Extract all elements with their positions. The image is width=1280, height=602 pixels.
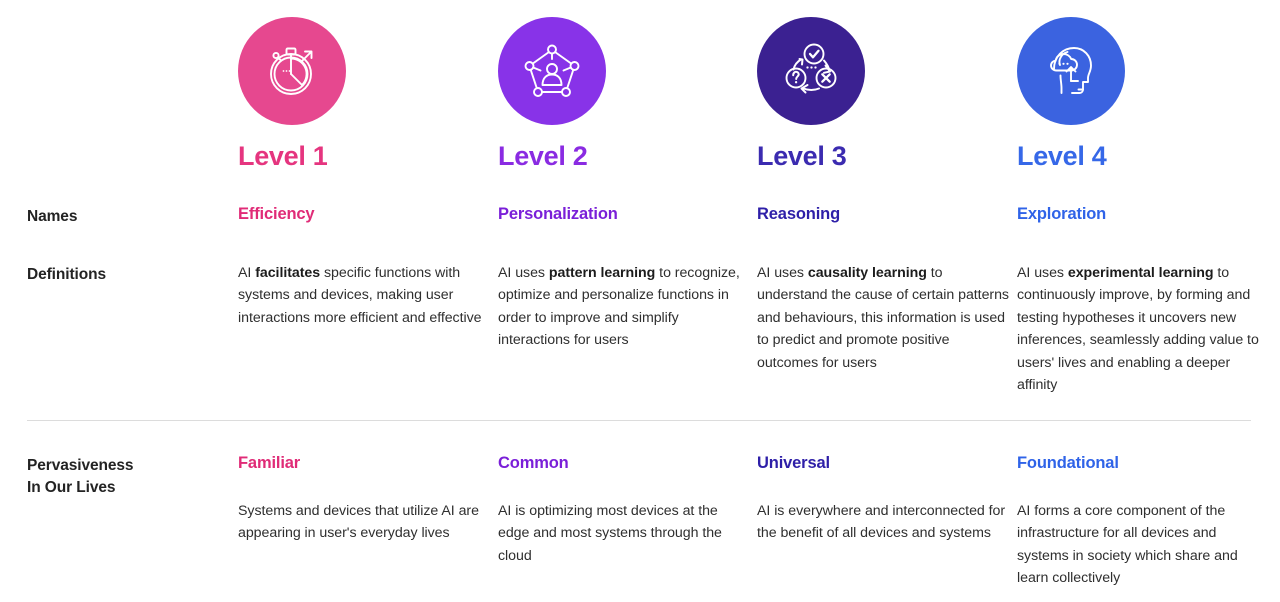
level-3-icon-circle (757, 17, 865, 125)
definition-prefix: AI uses (757, 265, 808, 281)
row-label-pervasiveness: Pervasiveness In Our Lives (27, 455, 227, 500)
level-2-name: Personalization (498, 205, 748, 224)
level-3-pervasiveness-body: AI is everywhere and interconnected for … (757, 500, 1009, 545)
level-3-title: Level 3 (757, 142, 1009, 172)
definition-prefix: AI (238, 265, 255, 281)
level-1-name: Efficiency (238, 205, 488, 224)
ai-maturity-levels-infographic: Level 1 Level 2 Level 3 Level 4 Names De… (0, 0, 1280, 602)
definition-bold: pattern learning (549, 265, 655, 281)
definition-bold: causality learning (808, 265, 927, 281)
level-1-pervasiveness-heading: Familiar (238, 454, 488, 473)
row-label-names: Names (27, 206, 227, 228)
level-3-definition: AI uses causality learning to understand… (757, 262, 1009, 374)
level-4-title: Level 4 (1017, 142, 1269, 172)
row-label-pervasiveness-line1: Pervasiveness (27, 455, 227, 477)
level-3-name: Reasoning (757, 205, 1009, 224)
definition-prefix: AI uses (498, 265, 549, 281)
row-label-definitions: Definitions (27, 264, 227, 286)
definition-suffix: to continuously improve, by forming and … (1017, 265, 1259, 393)
level-3-pervasiveness-heading: Universal (757, 454, 1009, 473)
level-2-definition: AI uses pattern learning to recognize, o… (498, 262, 748, 352)
level-2-title: Level 2 (498, 142, 748, 172)
level-1-pervasiveness-body: Systems and devices that utilize AI are … (238, 500, 488, 545)
level-4-pervasiveness-heading: Foundational (1017, 454, 1269, 473)
definition-bold: facilitates (255, 265, 320, 281)
section-divider (27, 420, 1251, 421)
level-2-icon-circle (498, 17, 606, 125)
level-1-definition: AI facilitates specific functions with s… (238, 262, 488, 329)
definition-bold: experimental learning (1068, 265, 1214, 281)
row-label-pervasiveness-line2: In Our Lives (27, 477, 227, 499)
level-2-pervasiveness-heading: Common (498, 454, 748, 473)
definition-prefix: AI uses (1017, 265, 1068, 281)
pentagon-network-person-icon (521, 40, 583, 102)
level-4-definition: AI uses experimental learning to continu… (1017, 262, 1269, 396)
level-1-icon-circle (238, 17, 346, 125)
cycle-check-cross-question-icon (780, 40, 842, 102)
level-4-pervasiveness-body: AI forms a core component of the infrast… (1017, 500, 1269, 590)
stopwatch-pie-arrow-icon (261, 40, 323, 102)
level-4-icon-circle (1017, 17, 1125, 125)
level-4-name: Exploration (1017, 205, 1269, 224)
level-2-pervasiveness-body: AI is optimizing most devices at the edg… (498, 500, 748, 567)
level-1-title: Level 1 (238, 142, 488, 172)
head-cloud-arrow-icon (1040, 40, 1102, 102)
